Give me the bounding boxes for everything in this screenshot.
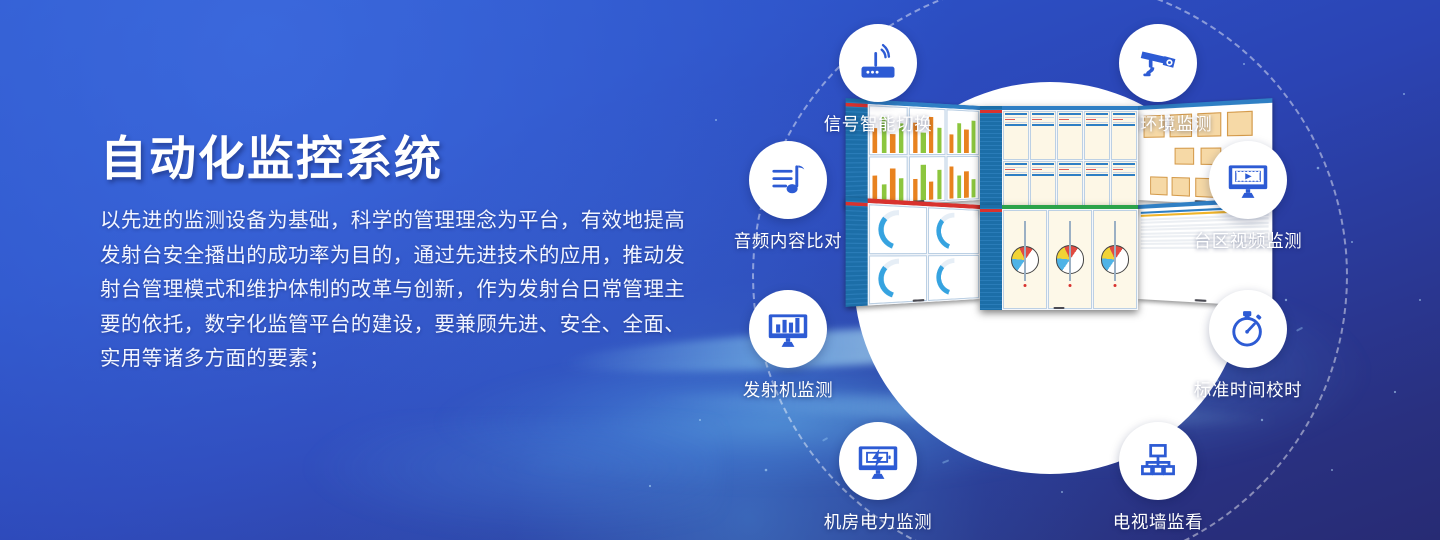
table-cell bbox=[1111, 111, 1137, 160]
screen-grid bbox=[1002, 209, 1138, 310]
light-glow-left bbox=[300, 420, 720, 540]
screen-grid bbox=[1002, 110, 1138, 211]
table-cell bbox=[1030, 161, 1056, 210]
table-cell bbox=[1057, 161, 1083, 210]
screen-main bbox=[1002, 106, 1138, 211]
screen-main bbox=[1002, 205, 1138, 310]
feature-label: 台区视频监测 bbox=[1173, 228, 1323, 253]
monitor-brand-nub bbox=[1054, 307, 1065, 309]
meter-cell bbox=[1048, 210, 1092, 309]
table-cell bbox=[1003, 111, 1029, 160]
banner-copy: 自动化监控系统 以先进的监测设备为基础，科学的管理理念为平台，有效地提高发射台安… bbox=[100, 130, 700, 377]
feature-label: 信号智能切换 bbox=[803, 111, 953, 136]
feature-node-time[interactable]: 标准时间校时 bbox=[1173, 290, 1323, 402]
feature-icon-bubble[interactable] bbox=[1119, 24, 1197, 102]
feature-icon-bubble[interactable] bbox=[1209, 290, 1287, 368]
feature-label: 电视墙监看 bbox=[1083, 509, 1233, 534]
stopwatch-icon bbox=[1226, 307, 1270, 351]
chart-cell bbox=[909, 156, 945, 203]
feature-icon-bubble[interactable] bbox=[1119, 422, 1197, 500]
feature-icon-bubble[interactable] bbox=[839, 422, 917, 500]
wifi-router-icon bbox=[856, 41, 900, 85]
gauge-cell bbox=[928, 207, 979, 253]
screen-sidebar bbox=[980, 205, 1002, 310]
screen-arc-gauge-dashboard bbox=[846, 197, 980, 307]
feature-node-power[interactable]: 机房电力监测 bbox=[803, 422, 953, 534]
monitor-bottom-center bbox=[980, 205, 1138, 310]
feature-node-video[interactable]: 台区视频监测 bbox=[1173, 141, 1323, 253]
monitor-video-play-icon bbox=[1226, 158, 1270, 202]
chart-cell bbox=[946, 156, 979, 201]
screen-status-table-grid bbox=[980, 106, 1138, 211]
feature-node-tvwall[interactable]: 电视墙监看 bbox=[1083, 422, 1233, 534]
feature-node-signal[interactable]: 信号智能切换 bbox=[803, 24, 953, 136]
feature-label: 标准时间校时 bbox=[1173, 377, 1323, 402]
feature-node-audio[interactable]: 音频内容比对 bbox=[713, 141, 863, 253]
table-cell bbox=[1057, 111, 1083, 160]
table-cell bbox=[1111, 161, 1137, 210]
feature-icon-bubble[interactable] bbox=[839, 24, 917, 102]
cctv-camera-icon bbox=[1136, 41, 1180, 85]
meter-cell bbox=[1003, 210, 1047, 309]
feature-icon-bubble[interactable] bbox=[749, 290, 827, 368]
meter-cell bbox=[1093, 210, 1137, 309]
screen-sidebar bbox=[980, 106, 1002, 211]
table-cell bbox=[1030, 111, 1056, 160]
page-title: 自动化监控系统 bbox=[100, 130, 700, 188]
monitor-battery-bolt-icon bbox=[856, 439, 900, 483]
table-cell bbox=[1003, 161, 1029, 210]
screen-grid bbox=[867, 203, 980, 306]
gauge-cell bbox=[928, 255, 979, 301]
feature-node-transmit[interactable]: 发射机监测 bbox=[713, 290, 863, 402]
screen-main bbox=[867, 198, 980, 305]
feature-icon-bubble[interactable] bbox=[1209, 141, 1287, 219]
monitor-bar-chart-icon bbox=[766, 307, 810, 351]
feature-cluster: 信号智能切换 机房环境监测 bbox=[700, 0, 1440, 540]
gauge-cell bbox=[868, 255, 926, 305]
table-cell bbox=[1084, 161, 1110, 210]
feature-icon-bubble[interactable] bbox=[749, 141, 827, 219]
banner-description: 以先进的监测设备为基础，科学的管理理念为平台，有效地提高发射台安全播出的成功率为… bbox=[100, 204, 700, 377]
music-note-icon bbox=[766, 158, 810, 202]
promo-banner: 自动化监控系统 以先进的监测设备为基础，科学的管理理念为平台，有效地提高发射台安… bbox=[0, 0, 1440, 540]
feature-label: 音频内容比对 bbox=[713, 228, 863, 253]
table-cell bbox=[1084, 111, 1110, 160]
feature-label: 机房电力监测 bbox=[803, 509, 953, 534]
hierarchy-network-icon bbox=[1136, 439, 1180, 483]
gauge-cell bbox=[868, 204, 926, 254]
screen-meter-gauge-dashboard bbox=[980, 205, 1138, 310]
feature-label: 发射机监测 bbox=[713, 377, 863, 402]
monitor-top-center bbox=[980, 106, 1138, 211]
monitor-bottom-left bbox=[846, 197, 980, 307]
